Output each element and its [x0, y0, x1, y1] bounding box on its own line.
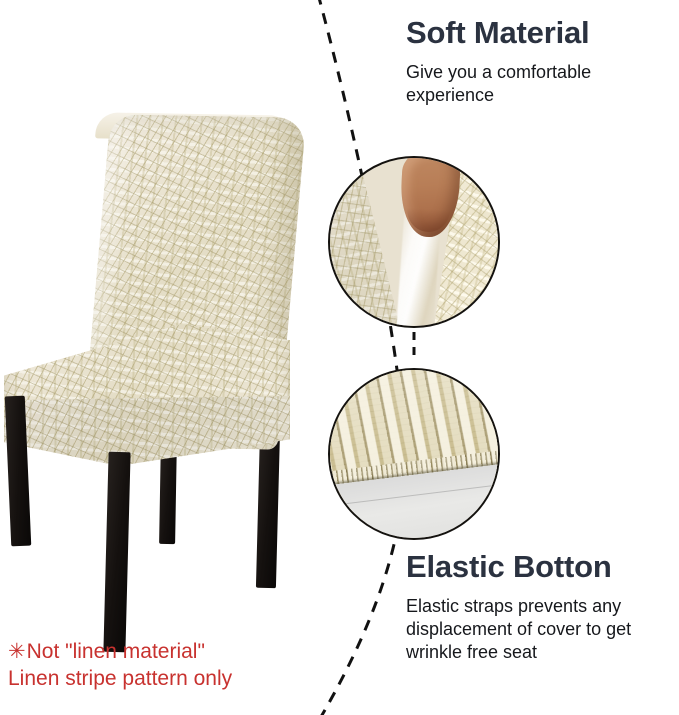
- disclaimer-line-1: ✳Not "linen material": [8, 638, 232, 665]
- product-chair-image: [0, 96, 330, 656]
- material-disclaimer: ✳Not "linen material" Linen stripe patte…: [8, 638, 232, 693]
- divider-dash-path: [318, 0, 405, 715]
- disclaimer-text-1: Not "linen material": [27, 640, 205, 663]
- infographic-canvas: Soft Material Give you a comfortable exp…: [0, 0, 679, 715]
- feature-description-elastic-bottom: Elastic straps prevents any displacement…: [406, 595, 674, 664]
- chair-seat-skirt: [4, 396, 290, 466]
- feature-headline-soft-material: Soft Material: [406, 16, 674, 51]
- feature-description-soft-material: Give you a comfortable experience: [406, 61, 674, 107]
- elastic-hem-photo: [328, 368, 500, 540]
- feature-headline-elastic-bottom: Elastic Botton: [406, 550, 674, 585]
- disclaimer-text-2: Linen stripe pattern only: [8, 665, 232, 692]
- chair-leg-front-right: [103, 452, 130, 653]
- feature-block-elastic-bottom: Elastic Botton Elastic straps prevents a…: [406, 550, 674, 664]
- feature-block-soft-material: Soft Material Give you a comfortable exp…: [406, 16, 674, 107]
- chair-leg-back-right: [256, 428, 280, 588]
- asterisk-icon: ✳: [8, 638, 26, 665]
- fabric-pinch-photo: [328, 156, 500, 328]
